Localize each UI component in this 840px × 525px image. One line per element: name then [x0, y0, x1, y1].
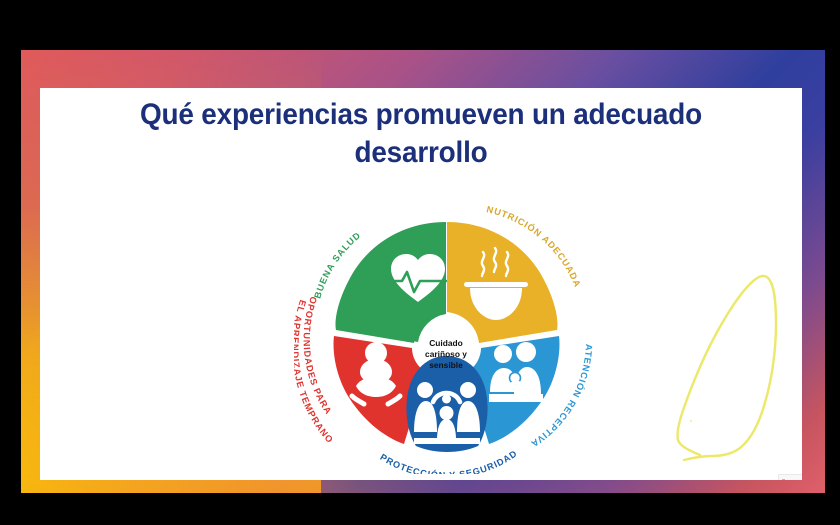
page-title: Qué experiencias promueven un adecuado d… [67, 96, 776, 172]
slide-gradient-frame: Qué experiencias promueven un adecuado d… [21, 50, 825, 493]
svg-text:cariñoso y: cariñoso y [425, 349, 467, 359]
page-title-line-1: Qué experiencias promueven un adecuado [67, 96, 776, 134]
letterbox-right [825, 0, 840, 525]
wheel-center-label: Cuidado cariñoso y sensible [425, 338, 467, 370]
video-stage: Qué experiencias promueven un adecuado d… [0, 0, 840, 525]
corner-watermark [778, 474, 802, 480]
svg-text:Cuidado: Cuidado [429, 338, 463, 348]
svg-text:sensible: sensible [429, 360, 463, 370]
letterbox-left [0, 0, 21, 525]
letterbox-bottom [0, 493, 840, 525]
nurturing-care-wheel: BUENA SALUD NUTRICIÓN ADECUADA ATENCIÓN … [294, 196, 599, 474]
presentation-slide[interactable]: Qué experiencias promueven un adecuado d… [40, 88, 802, 480]
letterbox-top [0, 0, 840, 50]
page-title-line-2: desarrollo [67, 134, 776, 172]
segment-proteccion-y-seguridad [406, 356, 487, 452]
